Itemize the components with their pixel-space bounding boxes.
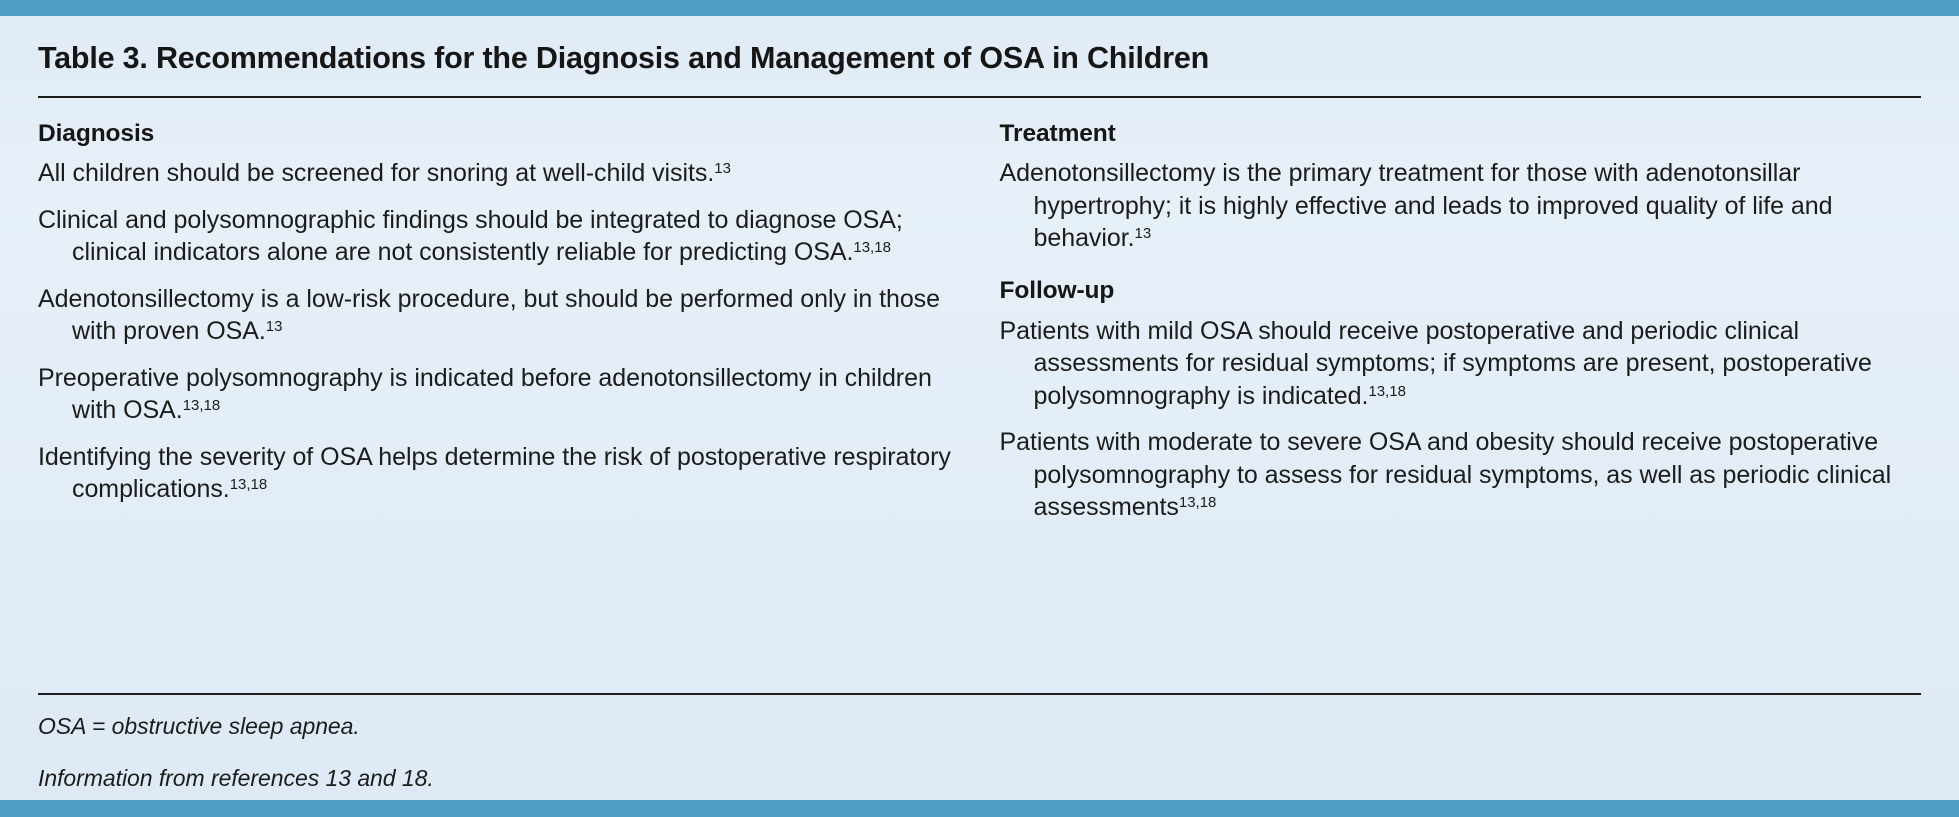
column-right: Treatment Adenotonsillectomy is the prim… xyxy=(980,120,1921,524)
section-follow-up: Follow-up Patients with mild OSA should … xyxy=(1000,277,1921,524)
table-title: Table 3. Recommendations for the Diagnos… xyxy=(38,16,1921,96)
table-card: Table 3. Recommendations for the Diagnos… xyxy=(0,0,1959,817)
reference-superscript: 13,18 xyxy=(183,398,221,415)
list-item: Adenotonsillectomy is the primary treatm… xyxy=(1000,157,1921,255)
entry-text: All children should be screened for snor… xyxy=(38,159,714,187)
entry-text: Clinical and polysomnographic findings s… xyxy=(38,206,903,267)
list-item: Identifying the severity of OSA helps de… xyxy=(38,441,956,506)
entry-text: Preoperative polysomnography is indicate… xyxy=(38,364,932,425)
list-item: Preoperative polysomnography is indicate… xyxy=(38,362,956,427)
section-treatment: Treatment Adenotonsillectomy is the prim… xyxy=(1000,120,1921,255)
list-item: All children should be screened for snor… xyxy=(38,157,956,190)
list-item: Clinical and polysomnographic findings s… xyxy=(38,204,956,269)
section-diagnosis: Diagnosis All children should be screene… xyxy=(38,120,956,506)
section-heading-follow-up: Follow-up xyxy=(1000,277,1921,306)
table-body: Table 3. Recommendations for the Diagnos… xyxy=(0,16,1959,800)
column-left: Diagnosis All children should be screene… xyxy=(38,120,980,506)
entry-text: Patients with mild OSA should receive po… xyxy=(1000,317,1872,410)
list-item: Adenotonsillectomy is a low-risk procedu… xyxy=(38,283,956,348)
section-heading-treatment: Treatment xyxy=(1000,120,1921,149)
entry-text: Adenotonsillectomy is the primary treatm… xyxy=(1000,159,1833,252)
reference-superscript: 13 xyxy=(266,319,283,336)
bottom-accent-bar xyxy=(0,800,1959,817)
top-accent-bar xyxy=(0,0,1959,16)
entry-text: Identifying the severity of OSA helps de… xyxy=(38,443,951,504)
entry-text: Adenotonsillectomy is a low-risk procedu… xyxy=(38,285,940,346)
reference-superscript: 13,18 xyxy=(230,477,268,494)
reference-superscript: 13,18 xyxy=(1368,383,1406,400)
list-item: Patients with mild OSA should receive po… xyxy=(1000,315,1921,413)
reference-superscript: 13 xyxy=(1135,226,1152,243)
footnote-abbreviation: OSA = obstructive sleep apnea. xyxy=(38,712,1921,742)
reference-superscript: 13,18 xyxy=(1179,495,1217,512)
footnote-source: Information from references 13 and 18. xyxy=(38,764,1921,794)
list-item: Patients with moderate to severe OSA and… xyxy=(1000,426,1921,524)
entry-text: Patients with moderate to severe OSA and… xyxy=(1000,428,1892,521)
table-columns: Diagnosis All children should be screene… xyxy=(38,98,1921,688)
footnotes: OSA = obstructive sleep apnea. Informati… xyxy=(38,695,1921,800)
section-heading-diagnosis: Diagnosis xyxy=(38,120,956,149)
reference-superscript: 13 xyxy=(714,161,731,178)
reference-superscript: 13,18 xyxy=(853,240,891,257)
